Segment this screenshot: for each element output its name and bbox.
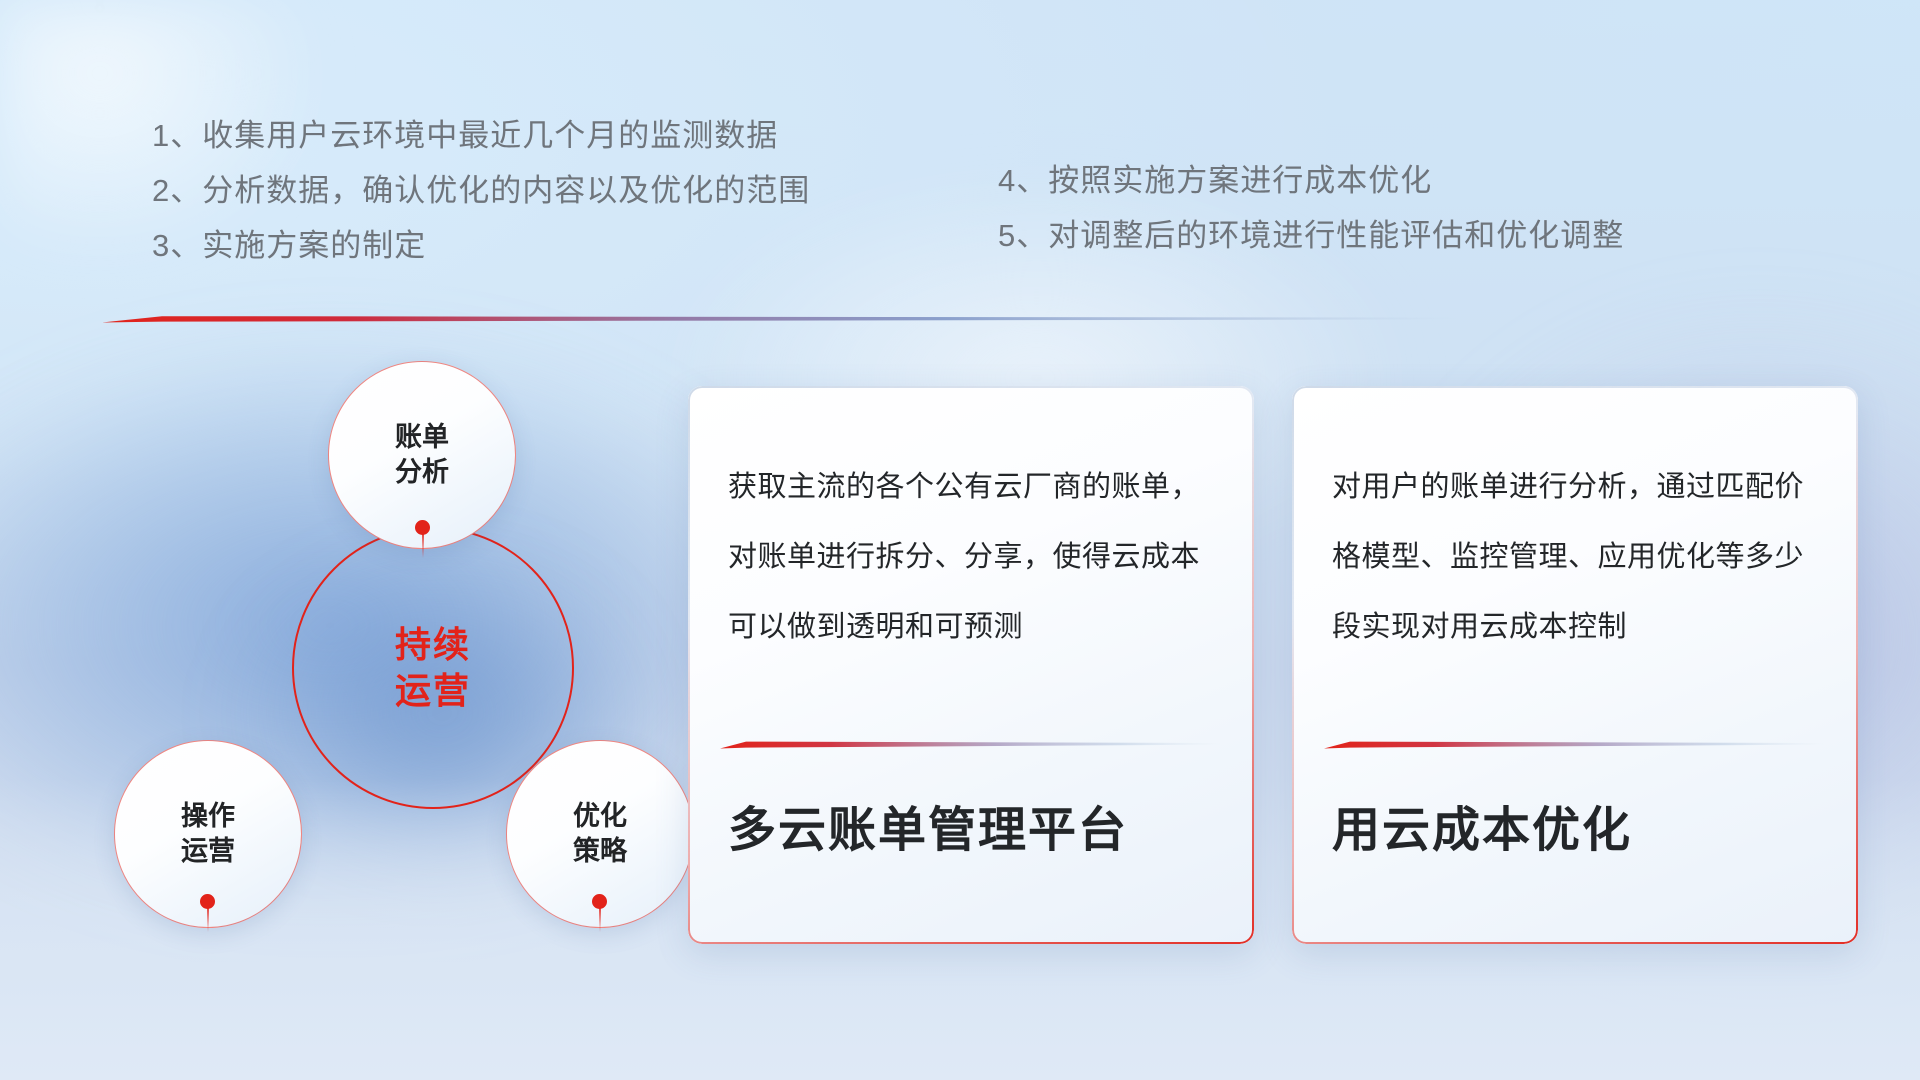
venn-node-dot-right-icon — [592, 894, 607, 909]
venn-tail-top-icon — [422, 534, 424, 558]
step-item-3: 3、实施方案的制定 — [152, 218, 810, 273]
card-multi-cloud-billing[interactable]: 获取主流的各个公有云厂商的账单，对账单进行拆分、分享，使得云成本可以做到透明和可… — [688, 386, 1254, 944]
card-1-accent-rule — [720, 738, 1220, 750]
venn-center-label: 持续 运营 — [292, 527, 574, 809]
venn-tail-right-icon — [599, 908, 601, 932]
card-cloud-cost-optimization[interactable]: 对用户的账单进行分析，通过匹配价格模型、监控管理、应用优化等多少段实现对用云成本… — [1292, 386, 1858, 944]
steps-right-column: 4、按照实施方案进行成本优化 5、对调整后的环境进行性能评估和优化调整 — [998, 153, 1624, 263]
step-item-4: 4、按照实施方案进行成本优化 — [998, 153, 1624, 208]
steps-left-column: 1、收集用户云环境中最近几个月的监测数据 2、分析数据，确认优化的内容以及优化的… — [152, 108, 810, 273]
card-2-title: 用云成本优化 — [1332, 790, 1828, 860]
card-2-body-text: 对用户的账单进行分析，通过匹配价格模型、监控管理、应用优化等多少段实现对用云成本… — [1332, 452, 1824, 662]
card-1-title: 多云账单管理平台 — [728, 790, 1224, 860]
venn-bubble-left-line-1: 操作 — [181, 799, 235, 834]
top-divider-shape — [102, 312, 1462, 326]
venn-node-dot-left-icon — [200, 894, 215, 909]
step-item-1: 1、收集用户云环境中最近几个月的监测数据 — [152, 108, 810, 163]
top-divider — [102, 312, 1462, 326]
venn-center-line-1: 持续 — [395, 622, 471, 668]
step-item-5: 5、对调整后的环境进行性能评估和优化调整 — [998, 208, 1624, 263]
step-item-2: 2、分析数据，确认优化的内容以及优化的范围 — [152, 163, 810, 218]
venn-bubble-left-line-2: 运营 — [181, 834, 235, 869]
venn-center-line-2: 运营 — [395, 668, 471, 714]
card-1-body-text: 获取主流的各个公有云厂商的账单，对账单进行拆分、分享，使得云成本可以做到透明和可… — [728, 452, 1220, 662]
venn-diagram: 持续 运营 账单 分析 操作 运营 优化 策略 — [96, 352, 656, 952]
card-2-accent-rule — [1324, 738, 1824, 750]
venn-bubble-top-line-1: 账单 — [395, 420, 449, 455]
venn-bubble-right-line-2: 策略 — [573, 834, 627, 869]
venn-bubble-top-line-2: 分析 — [395, 455, 449, 490]
card-2-accent-rule-shape — [1324, 739, 1824, 751]
card-1-accent-rule-shape — [720, 739, 1220, 751]
steps-section: 1、收集用户云环境中最近几个月的监测数据 2、分析数据，确认优化的内容以及优化的… — [0, 108, 1920, 283]
venn-bubble-right-line-1: 优化 — [573, 799, 627, 834]
venn-tail-left-icon — [207, 908, 209, 932]
venn-node-dot-top-icon — [415, 520, 430, 535]
